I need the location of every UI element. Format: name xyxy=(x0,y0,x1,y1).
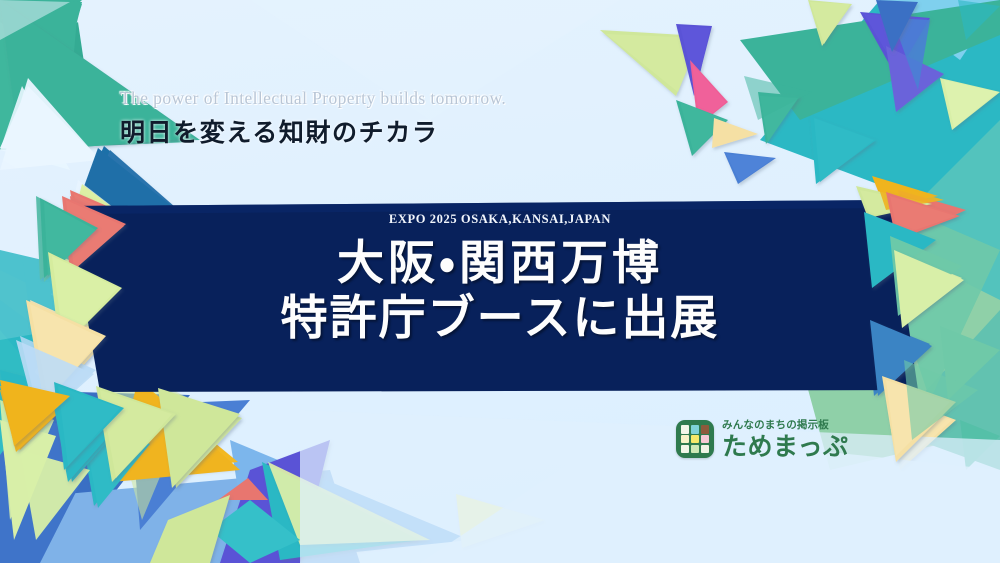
navy-banner-shape xyxy=(68,200,918,392)
tile xyxy=(681,435,689,443)
tile xyxy=(681,425,689,433)
logo-name: ためまっぷ xyxy=(722,434,849,459)
triangle-collage-decoration xyxy=(0,0,1000,563)
tile xyxy=(701,425,709,433)
tile-grid-icon xyxy=(676,420,714,458)
tile-grid xyxy=(681,425,709,453)
tile xyxy=(701,435,709,443)
logo-text-block: みんなのまちの掲示板 ためまっぷ xyxy=(722,420,849,459)
tile xyxy=(701,445,709,453)
poster-canvas: The power of Intellectual Property build… xyxy=(0,0,1000,563)
tile xyxy=(691,435,699,443)
tile xyxy=(681,445,689,453)
tamemap-logo[interactable]: みんなのまちの掲示板 ためまっぷ xyxy=(676,420,849,459)
tile xyxy=(691,445,699,453)
logo-tagline: みんなのまちの掲示板 xyxy=(722,420,849,431)
tile xyxy=(691,425,699,433)
